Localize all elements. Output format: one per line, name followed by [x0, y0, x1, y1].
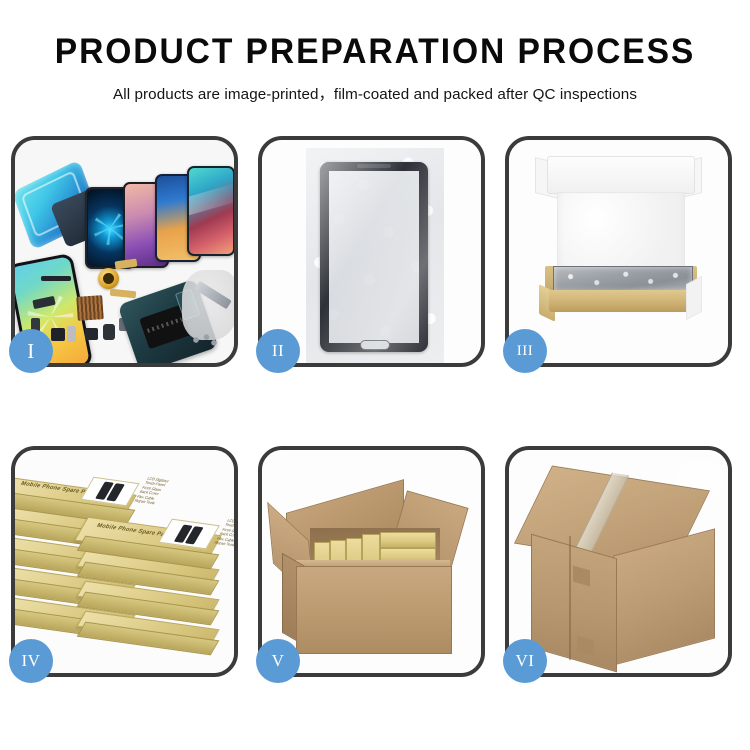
box-lid: [547, 156, 695, 194]
retail-box-checklist-back: LCD Digitizer Touch Panel Front Glass Ba…: [133, 477, 169, 506]
ic-chip-part: [76, 295, 104, 321]
step-image-4: Mobile Phone Spare Parts LCD Digitizer T…: [15, 450, 234, 673]
step-image-6: [509, 450, 728, 673]
speaker-coil-part: [98, 268, 119, 289]
box-right-side-flap: [686, 276, 702, 321]
small-part-4: [103, 324, 115, 340]
step-image-1: [15, 140, 234, 363]
flex-cable-part-1: [41, 276, 71, 281]
small-part-3: [85, 328, 98, 340]
step-panel-2: II: [258, 136, 485, 367]
retail-box-r2: [81, 590, 213, 604]
phone-front-glass: [320, 162, 428, 352]
carton-seam: [569, 536, 571, 660]
retail-box-r3: [81, 620, 213, 634]
step-panel-6: VI: [505, 446, 732, 677]
step-badge-2: II: [256, 329, 300, 373]
step-panel-5: V: [258, 446, 485, 677]
wrapped-screen-in-box: [553, 266, 693, 292]
page-title: PRODUCT PREPARATION PROCESS: [15, 34, 735, 71]
carton-front-face: [296, 566, 452, 654]
step-image-2: [262, 140, 481, 363]
step-badge-3: III: [503, 329, 547, 373]
steps-grid: I II III: [11, 136, 739, 677]
step-panel-4: Mobile Phone Spare Parts LCD Digitizer T…: [11, 446, 238, 677]
small-part-5: [51, 328, 65, 341]
step-badge-1: I: [9, 329, 53, 373]
step-badge-4: IV: [9, 639, 53, 683]
screws-group: [190, 333, 220, 347]
step-panel-1: I: [11, 136, 238, 367]
retail-box-stack: Mobile Phone Spare Parts LCD Digitizer T…: [15, 450, 234, 673]
phone-device-4: [187, 166, 234, 256]
step-panel-3: III: [505, 136, 732, 367]
packed-retail-box-5: [380, 532, 436, 548]
small-part-2: [67, 326, 76, 342]
retail-box-checklist-front: LCD Digitizer Touch Panel Front Glass Ba…: [213, 519, 234, 548]
step-image-3: [509, 140, 728, 363]
step-image-5: [262, 450, 481, 673]
product-preparation-infographic: PRODUCT PREPARATION PROCESS All products…: [0, 0, 750, 750]
step-badge-6: VI: [503, 639, 547, 683]
page-subtitle: All products are image-printed，film-coat…: [0, 82, 750, 104]
flex-cable-part-3: [110, 289, 137, 299]
kraft-box-front: [549, 290, 697, 312]
step-badge-5: V: [256, 639, 300, 683]
header: PRODUCT PREPARATION PROCESS All products…: [0, 0, 750, 104]
